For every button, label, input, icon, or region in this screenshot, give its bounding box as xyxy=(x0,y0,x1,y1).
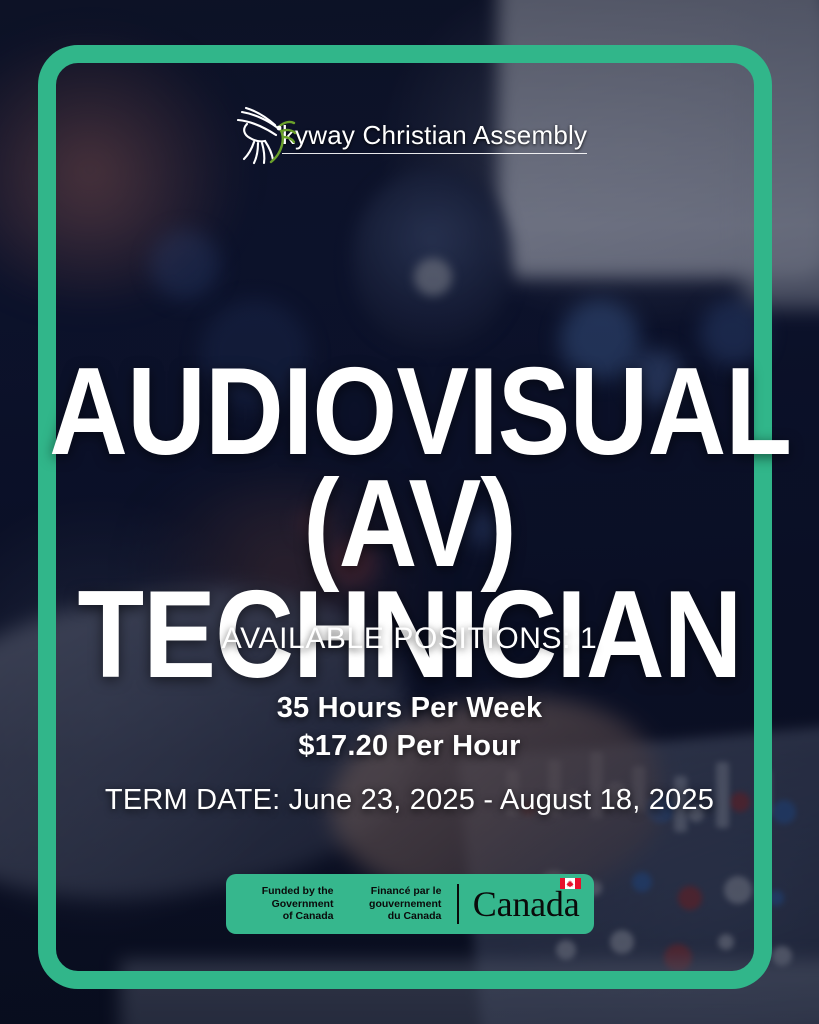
badge-divider xyxy=(457,884,458,924)
funding-text-french: Financé par le gouvernement du Canada xyxy=(347,885,441,923)
dove-with-olive-branch-icon xyxy=(232,104,308,170)
term-date-value: June 23, 2025 - August 18, 2025 xyxy=(289,784,714,816)
term-date: TERM DATE: June 23, 2025 - August 18, 20… xyxy=(0,784,819,817)
compensation-details: 35 Hours Per Week $17.20 Per Hour xyxy=(0,690,819,765)
job-posting-poster: kyway Christian Assembly AUDIOVISUAL (AV… xyxy=(0,0,819,1024)
canada-funding-badge: Funded by the Government of Canada Finan… xyxy=(226,874,594,934)
hours-per-week: 35 Hours Per Week xyxy=(0,690,819,728)
page-title-line-2: (AV) TECHNICIAN xyxy=(49,469,770,692)
term-date-label: TERM DATE: xyxy=(105,784,280,816)
canada-wordmark-text: Canada xyxy=(473,884,580,924)
hourly-wage: $17.20 Per Hour xyxy=(0,728,819,766)
organization-logo: kyway Christian Assembly xyxy=(0,104,819,170)
canada-flag-icon xyxy=(560,878,581,889)
available-positions: AVAILABLE POSITIONS: 1 xyxy=(0,622,819,656)
funding-text-english: Funded by the Government of Canada xyxy=(240,885,334,923)
organization-name: kyway Christian Assembly xyxy=(282,120,587,154)
canada-wordmark: Canada xyxy=(473,886,580,922)
page-title-line-1: AUDIOVISUAL xyxy=(49,357,770,469)
